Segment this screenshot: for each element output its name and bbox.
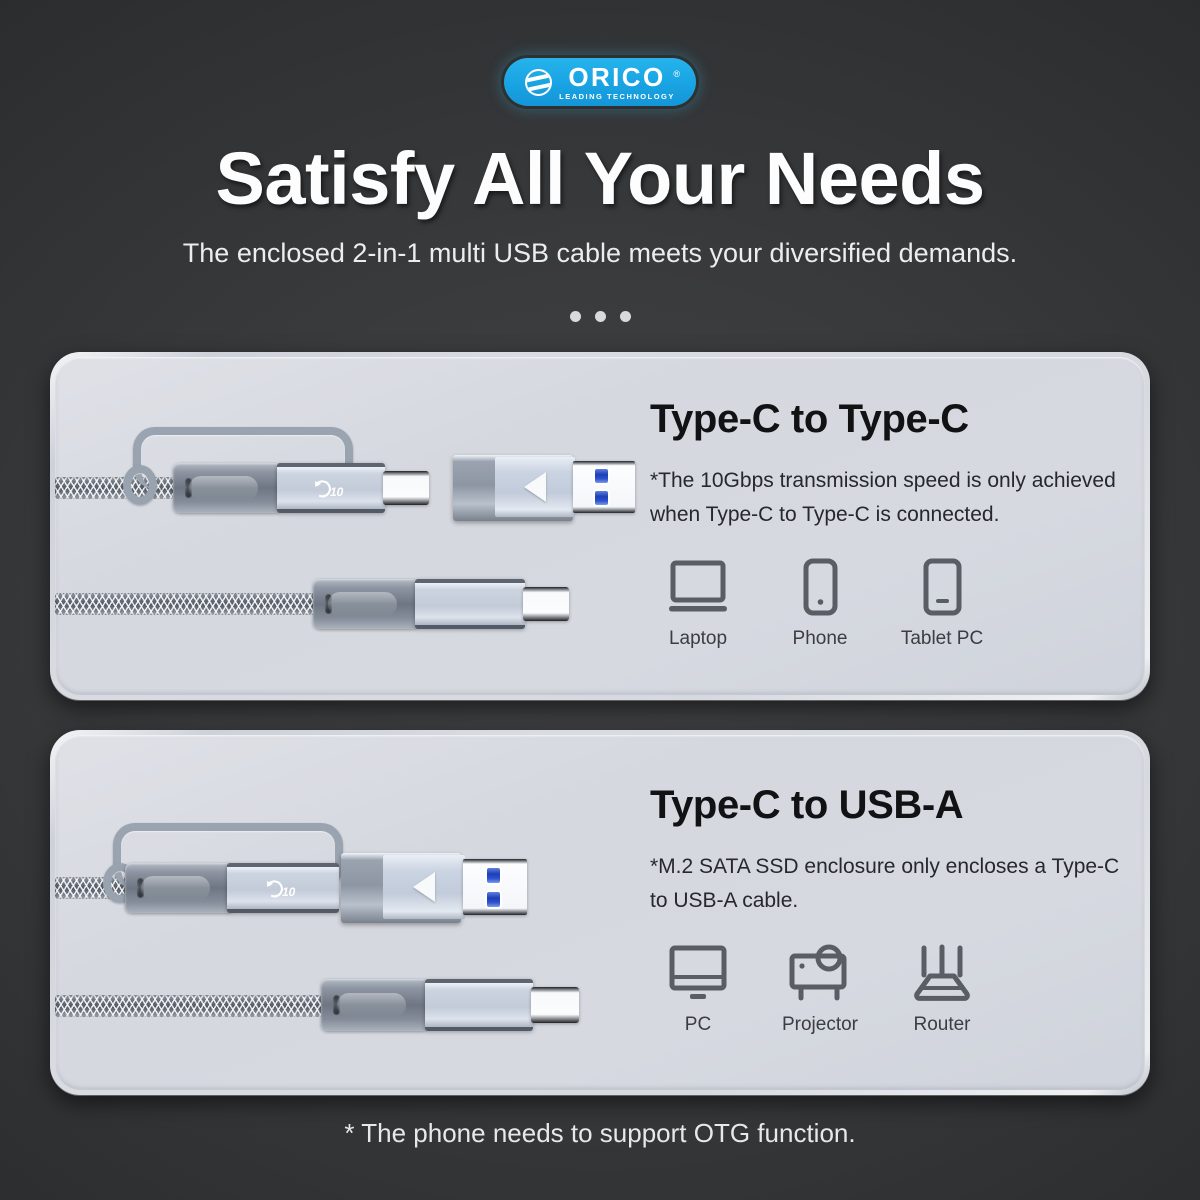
usb-a-plug-tip bbox=[463, 859, 527, 915]
type-c-body bbox=[425, 979, 533, 1031]
phone-icon bbox=[788, 558, 852, 620]
router-icon bbox=[910, 944, 974, 1006]
dot-divider bbox=[0, 311, 1200, 322]
brand-tagline: LEADING TECHNOLOGY bbox=[559, 93, 675, 101]
divider-dot bbox=[620, 311, 631, 322]
device-label: PC bbox=[685, 1014, 711, 1036]
type-c-body bbox=[415, 579, 525, 629]
type-c-body: 10 bbox=[227, 863, 339, 913]
divider-dot bbox=[570, 311, 581, 322]
usb3-pin-icon bbox=[487, 892, 500, 907]
device-label: Router bbox=[913, 1014, 970, 1036]
compatible-device-list: Laptop Phone Tablet PC bbox=[650, 558, 1121, 650]
superspeed-10-badge: 10 bbox=[227, 867, 339, 909]
type-c-tip bbox=[523, 587, 569, 621]
panel-inner: 10 bbox=[55, 357, 1145, 695]
orico-globe-icon bbox=[525, 69, 552, 96]
indicator-slot-icon bbox=[137, 878, 144, 898]
device-item-tablet: Tablet PC bbox=[894, 558, 990, 650]
projector-icon bbox=[788, 944, 852, 1006]
svg-text:10: 10 bbox=[282, 885, 296, 899]
logo-text: ORICO LEADING TECHNOLOGY bbox=[559, 64, 675, 101]
strain-relief bbox=[173, 463, 285, 513]
strain-relief bbox=[321, 979, 433, 1031]
panel-note: *M.2 SATA SSD enclosure only encloses a … bbox=[650, 850, 1121, 918]
type-c-tip bbox=[383, 471, 429, 505]
usb3-pin-icon bbox=[595, 469, 608, 483]
usb-a-plug-tip bbox=[573, 461, 635, 513]
direction-triangle-icon bbox=[524, 472, 546, 502]
tablet-icon bbox=[910, 558, 974, 620]
usb3-pin-icon bbox=[487, 868, 500, 883]
device-item-phone: Phone bbox=[772, 558, 868, 650]
superspeed-10-badge: 10 bbox=[277, 467, 385, 509]
direction-triangle-icon bbox=[413, 872, 435, 902]
cable-assembly-upper: 10 bbox=[55, 435, 615, 545]
compatible-device-list: PC Projector bbox=[650, 944, 1121, 1036]
brand-logo: ORICO LEADING TECHNOLOGY ® bbox=[0, 58, 1200, 106]
registered-mark-icon: ® bbox=[673, 69, 680, 79]
usb-a-adapter-face bbox=[383, 855, 465, 919]
device-label: Tablet PC bbox=[901, 628, 983, 650]
cable-assembly-lower bbox=[55, 565, 615, 655]
pc-monitor-icon bbox=[666, 944, 730, 1006]
device-label: Phone bbox=[793, 628, 848, 650]
type-c-body: 10 bbox=[277, 463, 385, 513]
feature-panel-type-c-to-usb-a: 10 bbox=[50, 730, 1150, 1095]
strain-relief bbox=[313, 579, 423, 629]
svg-text:10: 10 bbox=[330, 485, 344, 499]
strain-relief bbox=[125, 863, 237, 913]
indicator-slot-icon bbox=[185, 478, 192, 498]
cable-illustration-attached: 10 bbox=[55, 735, 615, 1090]
divider-dot bbox=[595, 311, 606, 322]
usb3-pin-icon bbox=[595, 491, 608, 505]
device-item-router: Router bbox=[894, 944, 990, 1036]
indicator-slot-icon bbox=[325, 594, 332, 614]
device-item-projector: Projector bbox=[772, 944, 868, 1036]
strap-ring-icon bbox=[123, 465, 157, 505]
footer-note: * The phone needs to support OTG functio… bbox=[0, 1118, 1200, 1149]
braided-cable-icon bbox=[55, 593, 325, 615]
feature-panel-type-c-to-type-c: 10 bbox=[50, 352, 1150, 700]
usb-a-adapter-face bbox=[495, 457, 575, 517]
type-c-tip bbox=[531, 987, 579, 1023]
laptop-icon bbox=[666, 558, 730, 620]
panel-content-right: Type-C to Type-C *The 10Gbps transmissio… bbox=[650, 357, 1121, 695]
brand-name: ORICO bbox=[568, 64, 665, 90]
braided-cable-icon bbox=[55, 995, 333, 1017]
page-title: Satisfy All Your Needs bbox=[0, 136, 1200, 221]
panel-content-right: Type-C to USB-A *M.2 SATA SSD enclosure … bbox=[650, 735, 1121, 1090]
panel-inner: 10 bbox=[55, 735, 1145, 1090]
cable-illustration-detached: 10 bbox=[55, 357, 615, 695]
panel-title: Type-C to Type-C bbox=[650, 397, 1121, 442]
cable-assembly-lower bbox=[55, 967, 615, 1057]
device-label: Laptop bbox=[669, 628, 727, 650]
device-item-laptop: Laptop bbox=[650, 558, 746, 650]
device-label: Projector bbox=[782, 1014, 858, 1036]
indicator-slot-icon bbox=[333, 995, 340, 1015]
cable-assembly-upper: 10 bbox=[55, 835, 615, 945]
page-subtitle: The enclosed 2-in-1 multi USB cable meet… bbox=[0, 238, 1200, 269]
panel-note: *The 10Gbps transmission speed is only a… bbox=[650, 464, 1121, 532]
logo-badge: ORICO LEADING TECHNOLOGY ® bbox=[504, 58, 696, 106]
panel-title: Type-C to USB-A bbox=[650, 783, 1121, 828]
device-item-pc: PC bbox=[650, 944, 746, 1036]
